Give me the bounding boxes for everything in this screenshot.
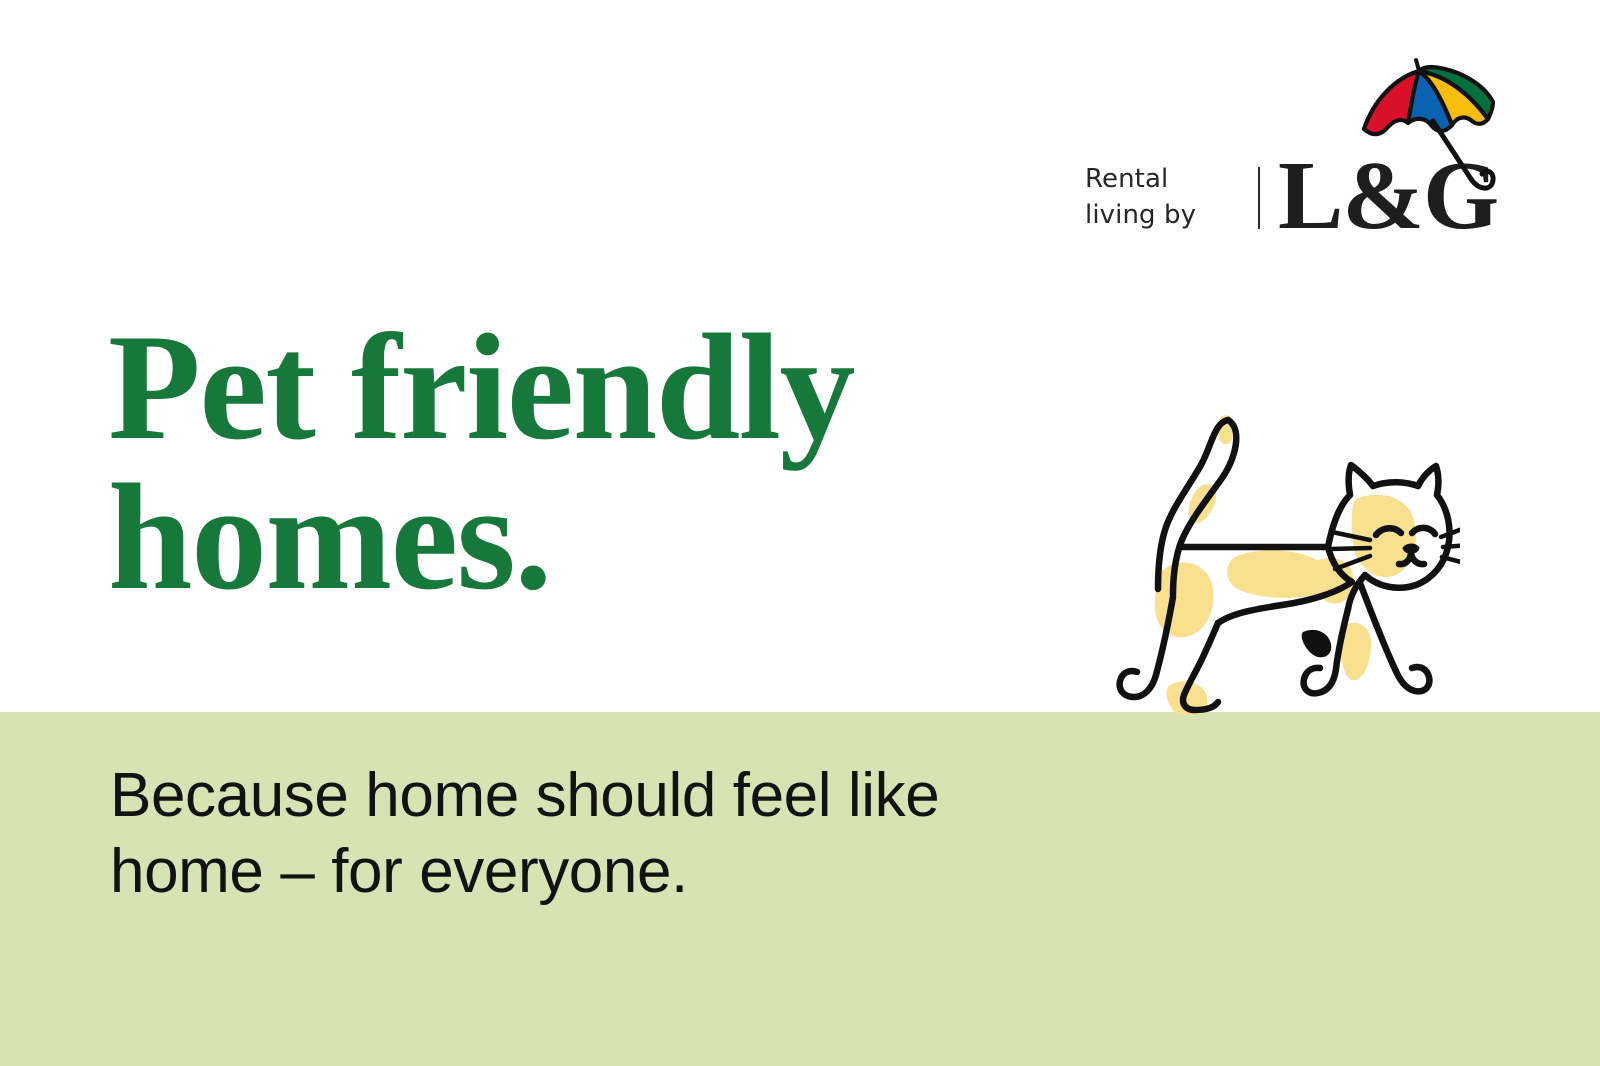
- brand-logo-lockup[interactable]: Rental living by L&G: [1085, 55, 1505, 255]
- cat-right-eye: [1412, 528, 1435, 534]
- walking-cat-illustration: [1060, 385, 1460, 715]
- logo-divider: [1258, 167, 1260, 229]
- subtitle-text: Because home should feel like home – for…: [110, 758, 939, 910]
- page-title: Pet friendly homes.: [108, 312, 854, 612]
- pet-friendly-homes-banner: Rental living by L&G Pet friendly homes.: [0, 0, 1600, 1066]
- cat-leg-marking: [1302, 630, 1332, 657]
- logo-prefix-text: Rental living by: [1085, 161, 1235, 233]
- cat-mouth-right: [1411, 552, 1424, 564]
- umbrella-icon: [1357, 55, 1497, 220]
